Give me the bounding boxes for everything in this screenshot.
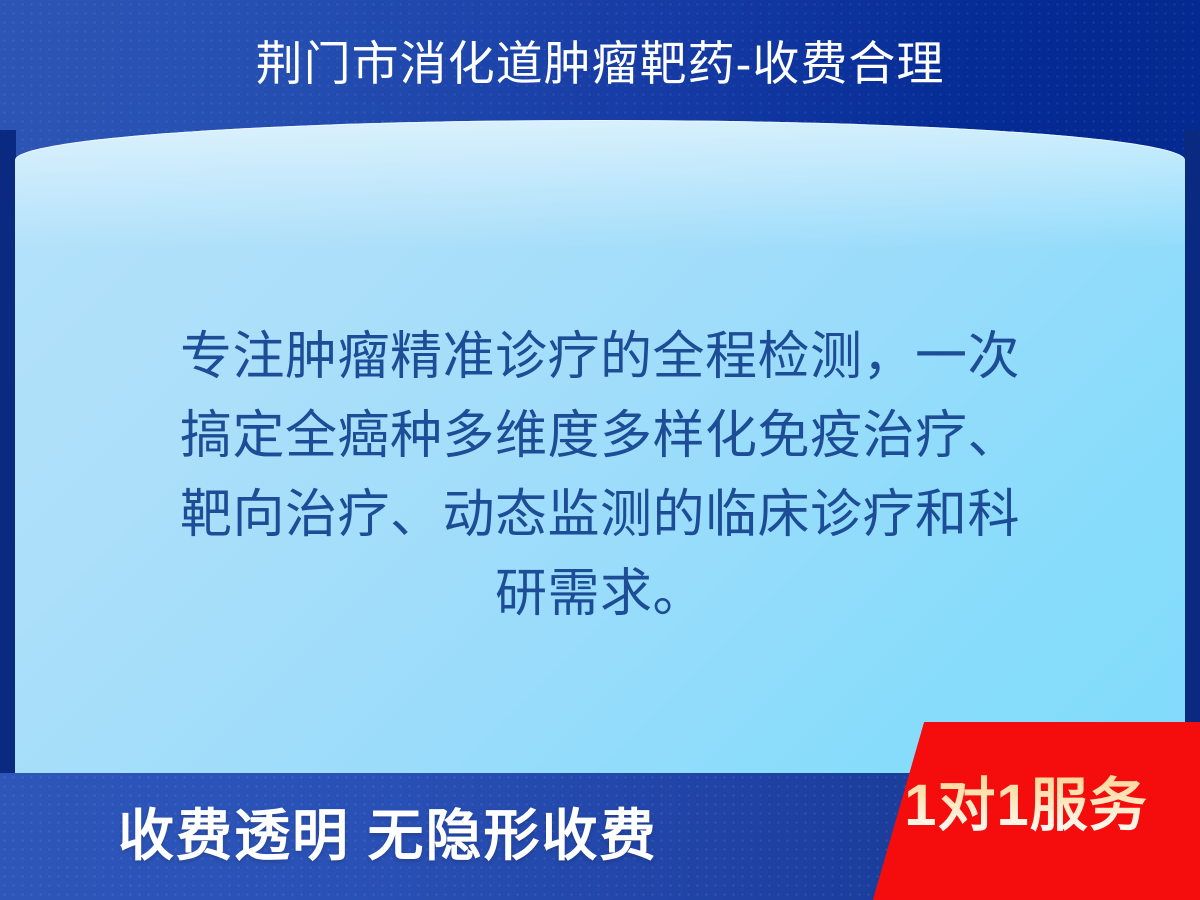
right-navy-rail (1184, 130, 1200, 790)
card-gloss-highlight (15, 120, 1185, 250)
promo-poster: 荆门市消化道肿瘤靶药-收费合理 专注肿瘤精准诊疗的全程检测，一次搞定全癌种多维度… (0, 0, 1200, 900)
page-title: 荆门市消化道肿瘤靶药-收费合理 (0, 34, 1200, 94)
footer-slogan: 收费透明 无隐形收费 (118, 794, 658, 878)
service-badge-label: 1对1服务 (852, 762, 1200, 850)
left-navy-rail (0, 130, 16, 790)
main-description-text: 专注肿瘤精准诊疗的全程检测，一次搞定全癌种多维度多样化免疫治疗、靶向治疗、动态监… (160, 318, 1040, 634)
